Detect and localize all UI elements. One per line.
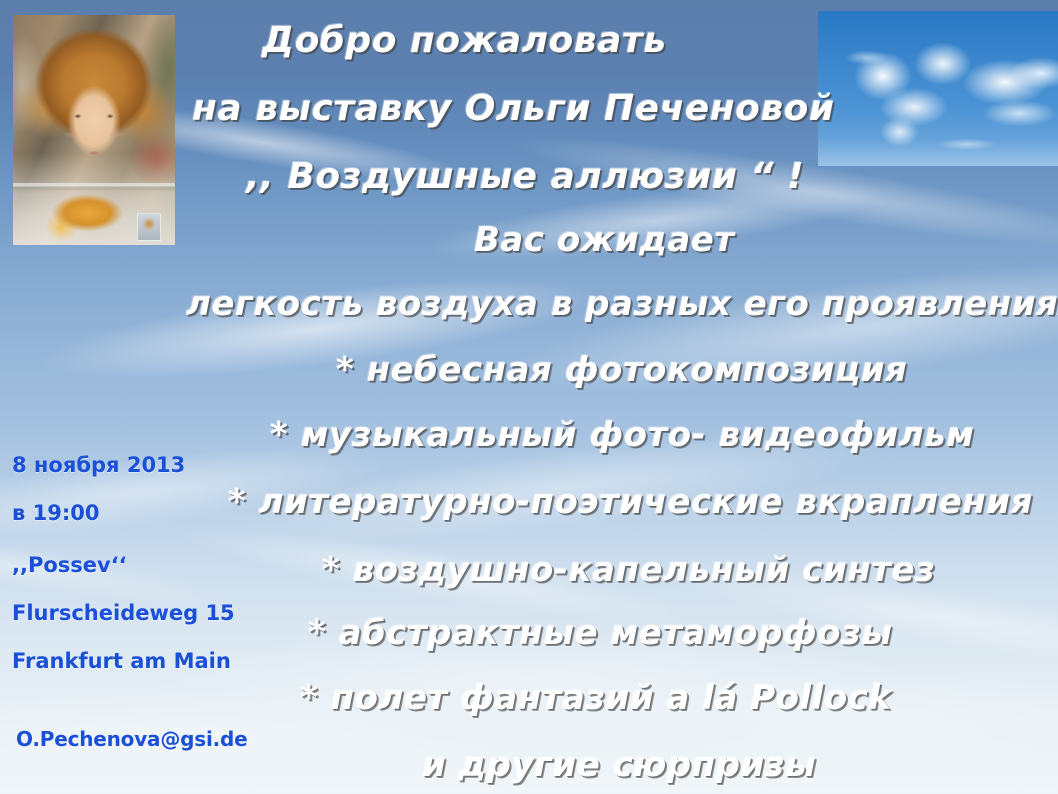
event-street: Flurscheideweg 15 xyxy=(12,603,235,624)
bullet-item-1: * небесная фотокомпозиция xyxy=(336,350,907,390)
bullet-item-6: * полет фантазий a lá Pollock xyxy=(300,678,891,718)
headline-line-3: ,, Воздушные аллюзии “ ! xyxy=(246,156,804,197)
event-date: 8 ноября 2013 xyxy=(12,455,185,476)
event-time: в 19:00 xyxy=(12,503,99,524)
exhibition-poster: Добро пожаловать на выставку Ольги Печен… xyxy=(0,0,1058,794)
lead-line-1: Вас ожидает xyxy=(474,220,735,260)
event-venue: ,,Possev‘‘ xyxy=(12,555,127,576)
bullet-item-4: * воздушно-капельный синтез xyxy=(322,550,935,590)
event-city: Frankfurt am Main xyxy=(12,651,231,672)
contact-email[interactable]: O.Pechenova@gsi.de xyxy=(16,729,248,749)
bullet-item-2: * музыкальный фото- видеофильм xyxy=(270,415,974,455)
lead-line-2: легкость воздуха в разных его проявления… xyxy=(186,284,1058,324)
bullet-item-7: и другие сюрпризы xyxy=(422,745,816,785)
bullet-item-3: * литературно-поэтические вкрапления xyxy=(228,482,1033,522)
cut-off-line: и xyxy=(470,788,492,794)
headline-line-2: на выставку Ольги Печеновой xyxy=(192,88,835,129)
poster-text-block: Добро пожаловать на выставку Ольги Печен… xyxy=(0,0,1058,794)
bullet-item-5: * абстрактные метаморфозы xyxy=(308,613,892,653)
headline-line-1: Добро пожаловать xyxy=(262,20,667,61)
